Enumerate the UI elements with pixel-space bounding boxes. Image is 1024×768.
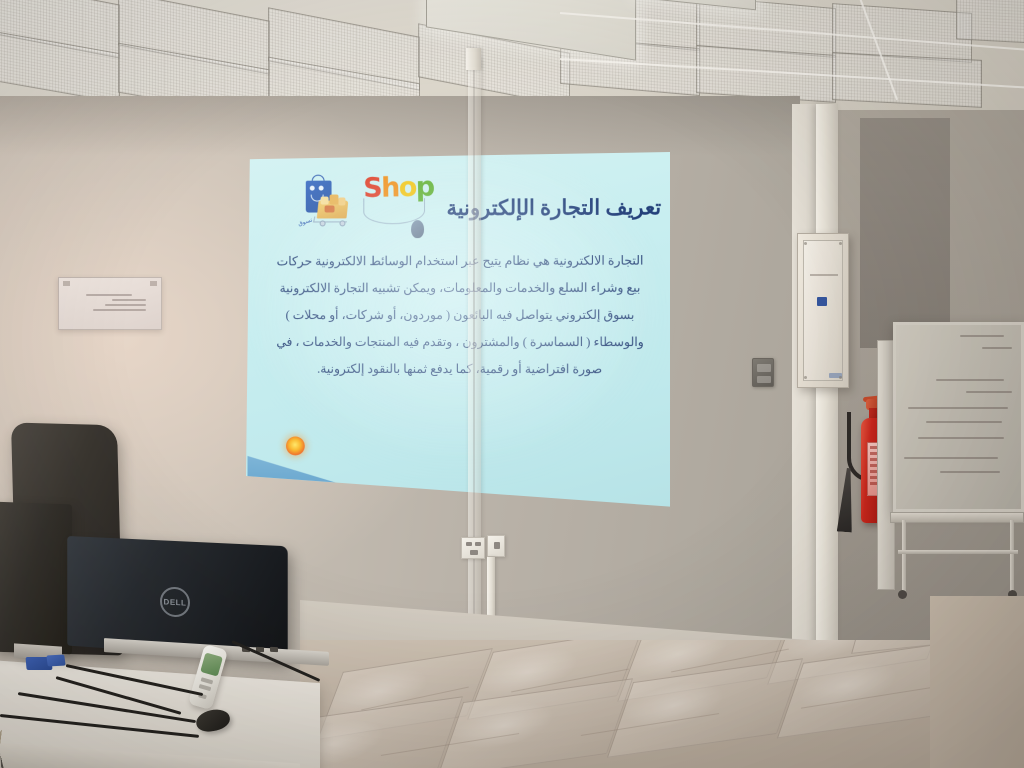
- shop-logo: Shop: [363, 174, 441, 242]
- wall-column: [816, 104, 838, 684]
- dell-logo-text: DELL: [164, 597, 187, 607]
- floor: [300, 640, 1024, 768]
- slide-header: تعريف التجارة الإلكترونية Shop: [261, 173, 661, 243]
- slide-body-text: التجارة الالكترونية هي نظام يتيح عبر است…: [265, 247, 655, 383]
- floor-right-section: [930, 596, 1024, 768]
- remote-keypad[interactable]: [200, 652, 223, 676]
- wall-switch-plate[interactable]: [752, 358, 774, 387]
- wall-alcove: [860, 118, 950, 348]
- slide-decoration-sun: [286, 436, 305, 455]
- wall-conduit-vertical: [468, 58, 481, 658]
- computer-mouse-icon: [411, 220, 424, 238]
- whiteboard-stand: [898, 520, 1018, 596]
- laptop[interactable]: DELL: [64, 541, 286, 653]
- projected-slide: تعريف التجارة الإلكترونية Shop: [246, 152, 670, 512]
- power-outlet-left[interactable]: [461, 537, 485, 559]
- cable-bundle: [0, 723, 121, 768]
- electrical-panel-door[interactable]: [803, 240, 843, 381]
- framed-notice-sign: [58, 277, 162, 330]
- electrical-panel-label: [817, 297, 827, 306]
- classroom-scene: تعريف التجارة الإلكترونية Shop: [0, 0, 1024, 768]
- wall-shadow: [0, 96, 800, 156]
- monitor[interactable]: [0, 502, 72, 655]
- vga-connector-secondary[interactable]: [46, 655, 65, 667]
- whiteboard[interactable]: [893, 322, 1024, 512]
- wall-conduit-upper: [466, 48, 481, 70]
- electrical-panel[interactable]: [797, 233, 849, 388]
- shop-letter-p: p: [415, 174, 433, 201]
- shopping-bag-character-icon: تسوق: [295, 178, 356, 238]
- dell-logo: DELL: [160, 586, 190, 618]
- power-outlet-right[interactable]: [487, 535, 505, 557]
- shop-logo-caption: تسوق: [297, 217, 313, 228]
